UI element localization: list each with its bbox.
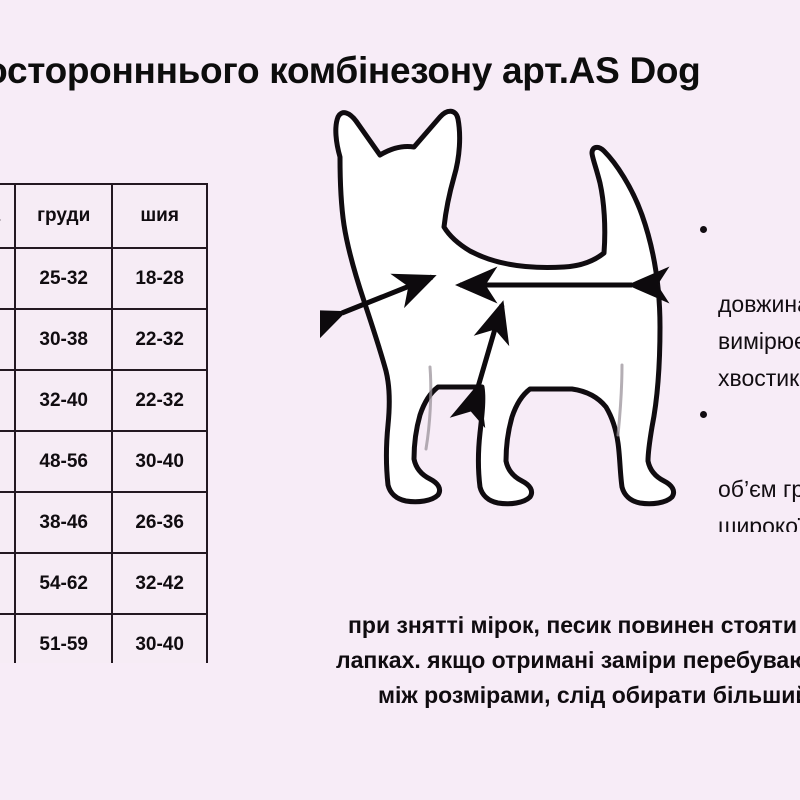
cell-neck: 26-36 [112,492,207,553]
cell-length [0,492,15,553]
cell-length [0,309,15,370]
note-line-1: при знятті мірок, песик повинен стояти н… [330,608,800,643]
cell-neck: 32-42 [112,553,207,614]
cell-chest: 38-46 [15,492,112,553]
dog-body-path [336,111,674,504]
cell-length [0,370,15,431]
cell-chest: 48-56 [15,431,112,492]
measurement-note: при знятті мірок, песик повинен стояти н… [330,608,800,720]
cell-neck: 22-32 [112,370,207,431]
table-row: 25-32 18-28 [0,248,207,309]
table-row: 32-40 22-32 [0,370,207,431]
table-row: 48-56 30-40 [0,431,207,492]
cell-chest: 54-62 [15,553,112,614]
list-item: об’єм грудей - широкої частини грудної к… [718,397,800,532]
cell-length [0,614,15,663]
cell-neck: 30-40 [112,614,207,663]
bullet-dot-icon [700,411,707,418]
cell-length [0,431,15,492]
list-item-text: довжина спини - вимірюється від шиї до х… [718,291,800,391]
cell-chest: 25-32 [15,248,112,309]
table-row: 54-62 32-42 [0,553,207,614]
cell-chest: 32-40 [15,370,112,431]
table-header-row: довжина груди шия [0,184,207,248]
dog-outline-icon [320,105,720,615]
dog-measurement-diagram [320,105,720,615]
cell-neck: 18-28 [112,248,207,309]
size-table: довжина груди шия 25-32 18-28 30-38 22-3… [0,183,208,663]
cell-chest: 51-59 [15,614,112,663]
cell-neck: 30-40 [112,431,207,492]
table-row: 51-59 30-40 [0,614,207,663]
bullet-dot-icon [700,226,707,233]
column-header-length: довжина [0,184,15,248]
size-table-container: довжина груди шия 25-32 18-28 30-38 22-3… [0,183,306,663]
cell-length [0,553,15,614]
note-line-3: між розмірами, слід обирати більший [330,678,800,713]
column-header-chest: груди [15,184,112,248]
page-title-text: двосторонннього комбінезону арт.AS Dog [0,40,700,102]
cell-neck: 22-32 [112,309,207,370]
note-line-2: лапках. якщо отримані заміри перебувають… [330,643,800,678]
column-header-neck: шия [112,184,207,248]
table-row: 38-46 26-36 [0,492,207,553]
measurement-instructions-list: довжина спини - вимірюється від шиї до х… [694,212,800,532]
list-item: довжина спини - вимірюється від шиї до х… [718,212,800,397]
page-title: двосторонннього комбінезону арт.AS Dog [0,40,800,102]
cell-length [0,248,15,309]
table-row: 30-38 22-32 [0,309,207,370]
list-item-text: об’єм грудей - широкої частини грудної к… [718,476,800,532]
cell-chest: 30-38 [15,309,112,370]
